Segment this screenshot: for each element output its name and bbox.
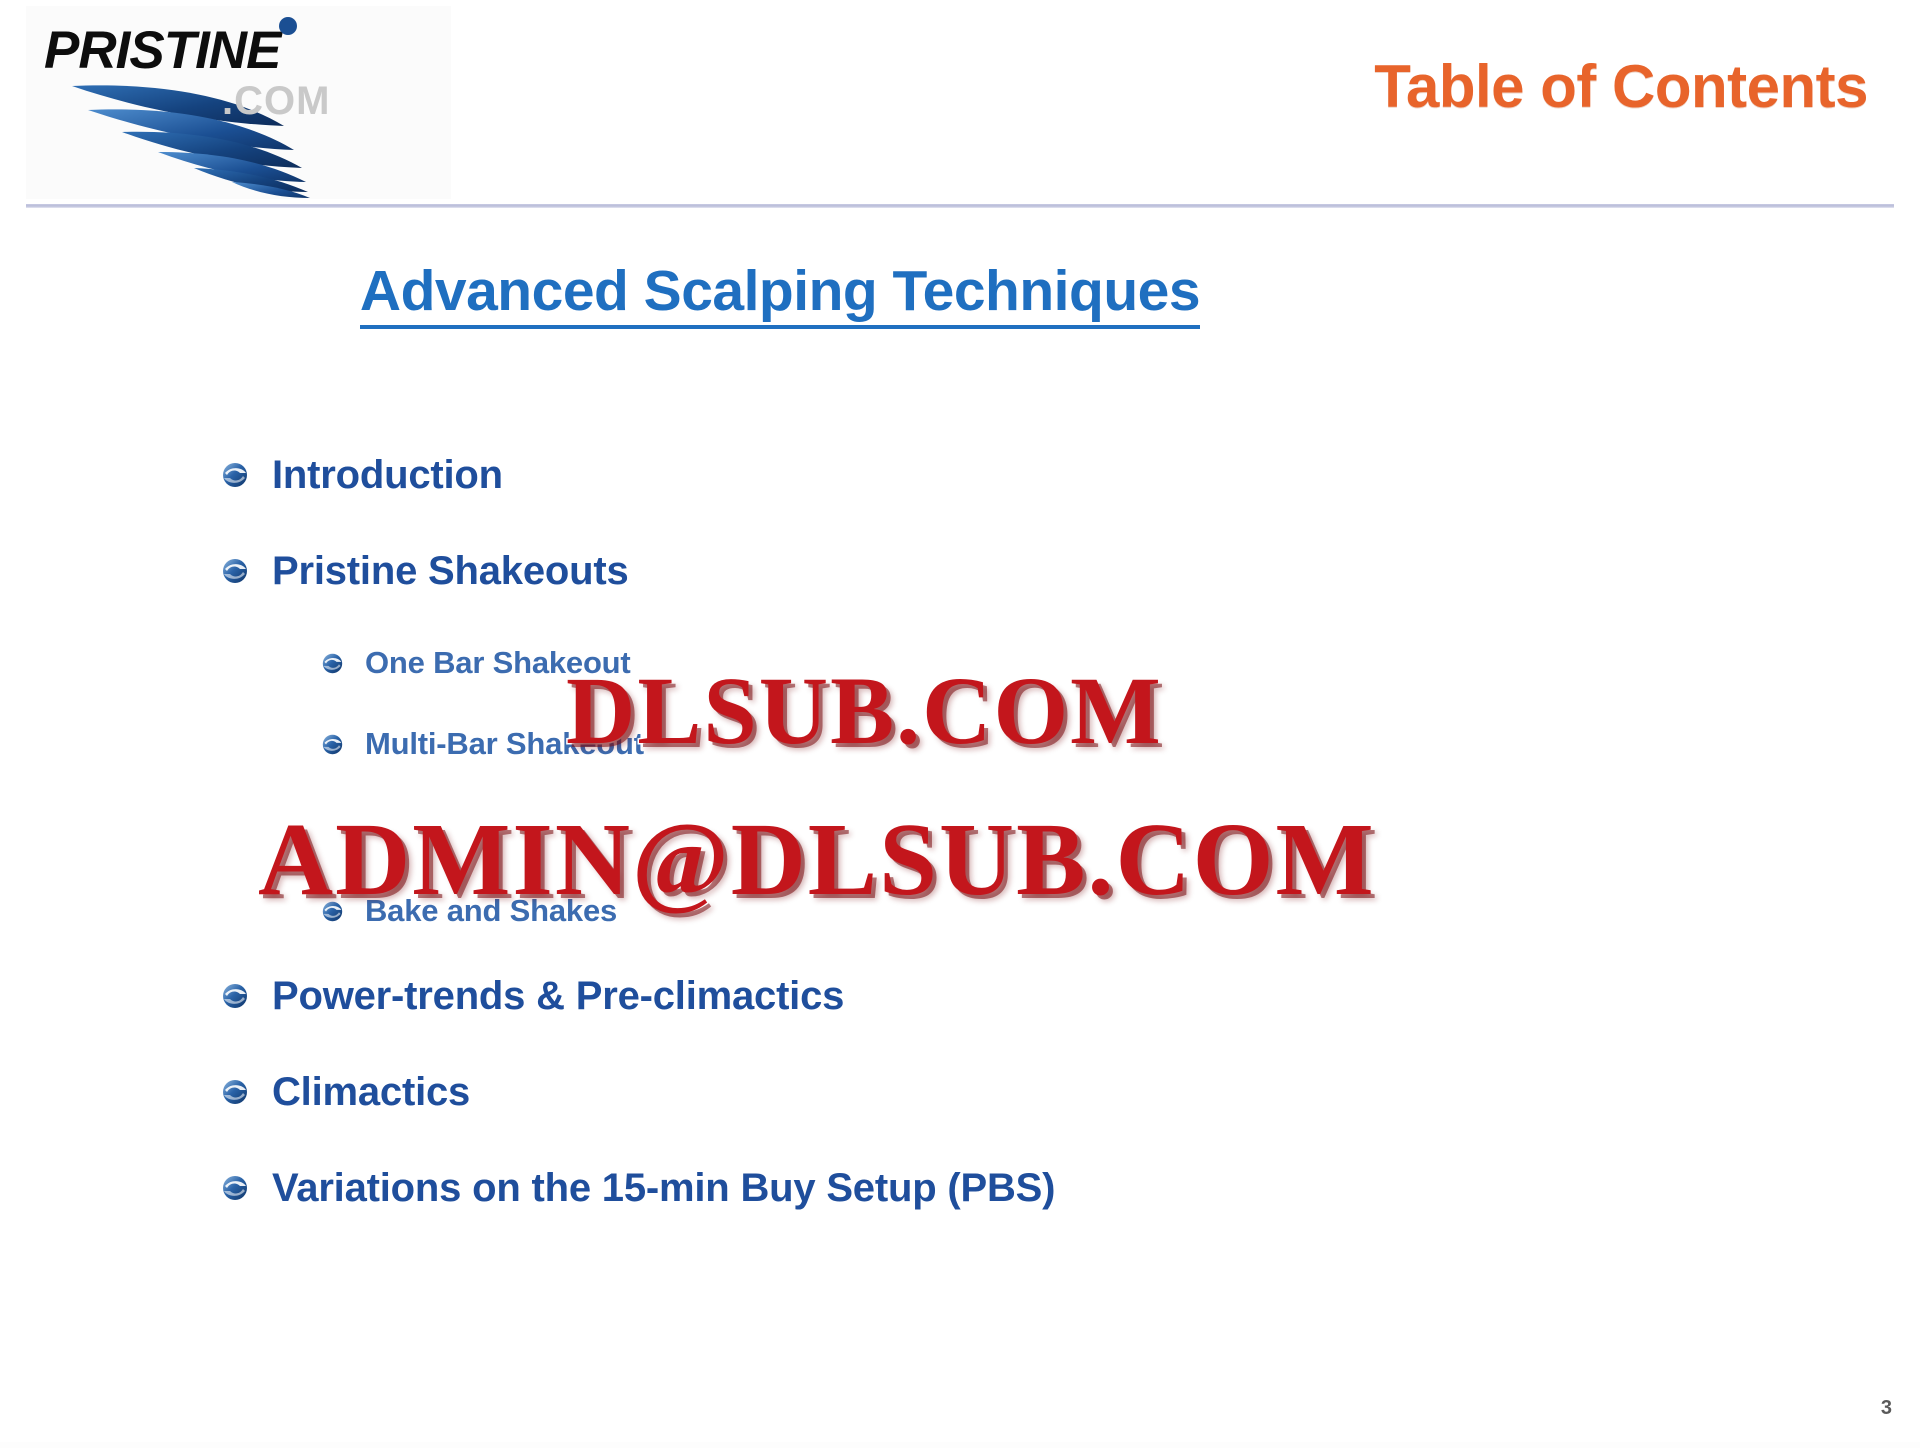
table-of-contents: Introduction Pristine Shakeouts One bbox=[0, 455, 1920, 1264]
slide-canvas: .COM PRISTINE Table of Contents Advanced… bbox=[0, 0, 1920, 1448]
swirl-bullet-icon bbox=[222, 1175, 248, 1201]
toc-item-bake-and-shakes[interactable]: Bake and Shakes bbox=[322, 895, 1920, 926]
toc-item-multi-bar-shakeout[interactable]: Multi-Bar Shakeout bbox=[322, 728, 1920, 759]
toc-item-label: Multi-Bar Shakeout bbox=[365, 728, 644, 759]
svg-text:.COM: .COM bbox=[222, 79, 330, 123]
swirl-bullet-icon bbox=[222, 558, 248, 584]
toc-item-label: Bake and Shakes bbox=[365, 895, 617, 926]
toc-item-label: Pristine Shakeouts bbox=[272, 551, 629, 591]
toc-item-label: One Bar Shakeout bbox=[365, 647, 631, 678]
slide-title-text: Advanced Scalping Techniques bbox=[360, 259, 1200, 329]
pristine-logo: .COM PRISTINE bbox=[26, 6, 451, 199]
toc-item-label: Introduction bbox=[272, 455, 503, 495]
svg-text:PRISTINE: PRISTINE bbox=[44, 21, 283, 80]
page-number: 3 bbox=[1881, 1397, 1892, 1420]
swirl-bullet-icon bbox=[222, 983, 248, 1009]
toc-item-one-bar-shakeout[interactable]: One Bar Shakeout bbox=[322, 647, 1920, 678]
toc-item-climactics[interactable]: Climactics bbox=[222, 1072, 1920, 1112]
toc-item-label: Variations on the 15-min Buy Setup (PBS) bbox=[272, 1168, 1055, 1208]
swirl-bullet-icon bbox=[222, 1079, 248, 1105]
toc-item-introduction[interactable]: Introduction bbox=[222, 455, 1920, 495]
toc-spacer bbox=[0, 809, 1920, 895]
toc-item-power-trends[interactable]: Power-trends & Pre-climactics bbox=[222, 976, 1920, 1016]
page-title: Table of Contents bbox=[1374, 52, 1868, 121]
header-divider bbox=[26, 204, 1894, 208]
swirl-bullet-icon bbox=[322, 901, 343, 922]
pristine-logo-icon: .COM PRISTINE bbox=[26, 6, 451, 199]
swirl-bullet-icon bbox=[322, 653, 343, 674]
toc-item-variations-15min-buy-setup[interactable]: Variations on the 15-min Buy Setup (PBS) bbox=[222, 1168, 1920, 1208]
toc-item-pristine-shakeouts[interactable]: Pristine Shakeouts bbox=[222, 551, 1920, 591]
toc-item-label: Power-trends & Pre-climactics bbox=[272, 976, 844, 1016]
slide-title: Advanced Scalping Techniques bbox=[0, 258, 1560, 324]
toc-item-label: Climactics bbox=[272, 1072, 470, 1112]
swirl-bullet-icon bbox=[222, 462, 248, 488]
slide-bottom-edge bbox=[0, 1442, 1920, 1448]
swirl-bullet-icon bbox=[322, 734, 343, 755]
